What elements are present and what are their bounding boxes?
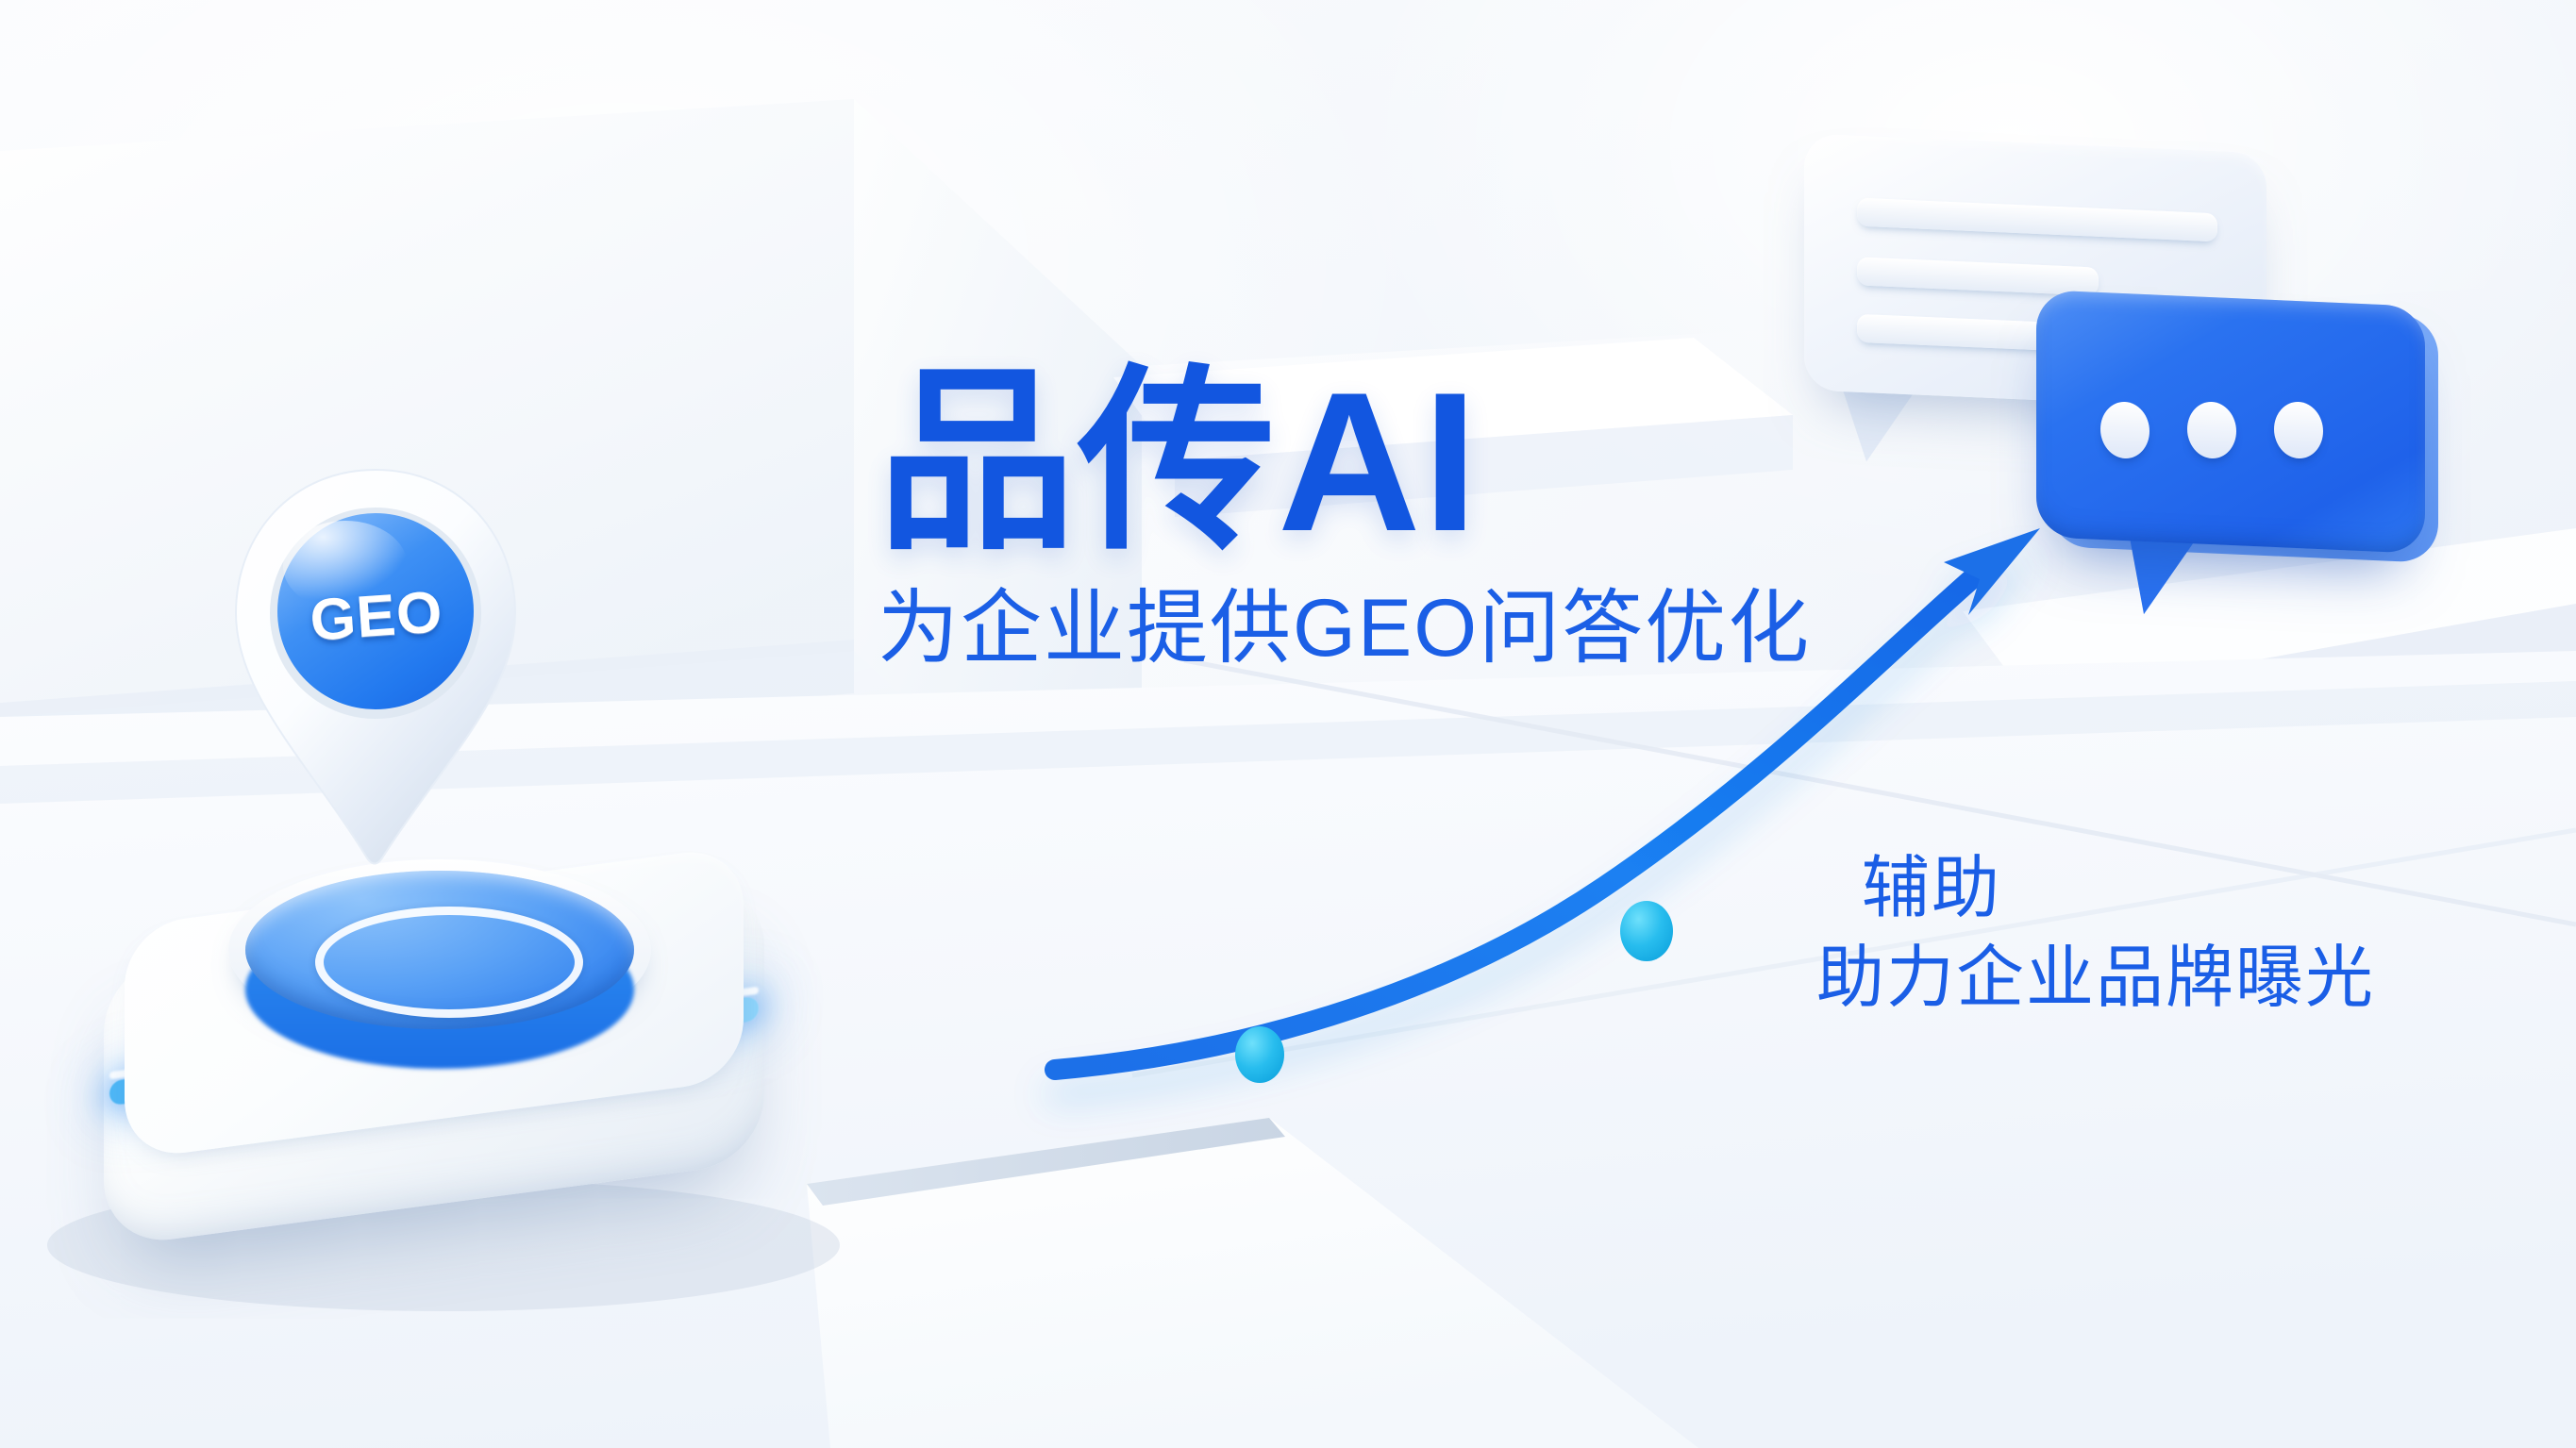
chat-bubble-typing-tail xyxy=(2129,532,2199,616)
chat-bubble-outline-tail xyxy=(1842,387,1915,463)
banner-canvas: GEO 品传AI 为企业提供GEO问答优化 xyxy=(0,0,2576,1448)
pin-label: GEO xyxy=(276,576,477,657)
disc-inner-ring xyxy=(315,907,583,1018)
page-title: 品传AI xyxy=(878,363,1811,561)
location-pin-icon xyxy=(225,462,527,877)
pedestal-device xyxy=(104,854,764,1250)
geo-location-pin: GEO xyxy=(225,462,527,877)
caption-block: 辅助 助力企业品牌曝光 xyxy=(1816,844,2375,1024)
headline-block: 品传AI 为企业提供GEO问答优化 xyxy=(878,363,1811,669)
chat-bubbles-group xyxy=(1783,123,2538,594)
page-subtitle: 为企业提供GEO问答优化 xyxy=(878,588,1811,669)
caption-line-1: 辅助 xyxy=(1862,844,2375,934)
caption-line-2: 助力企业品牌曝光 xyxy=(1816,934,2375,1024)
